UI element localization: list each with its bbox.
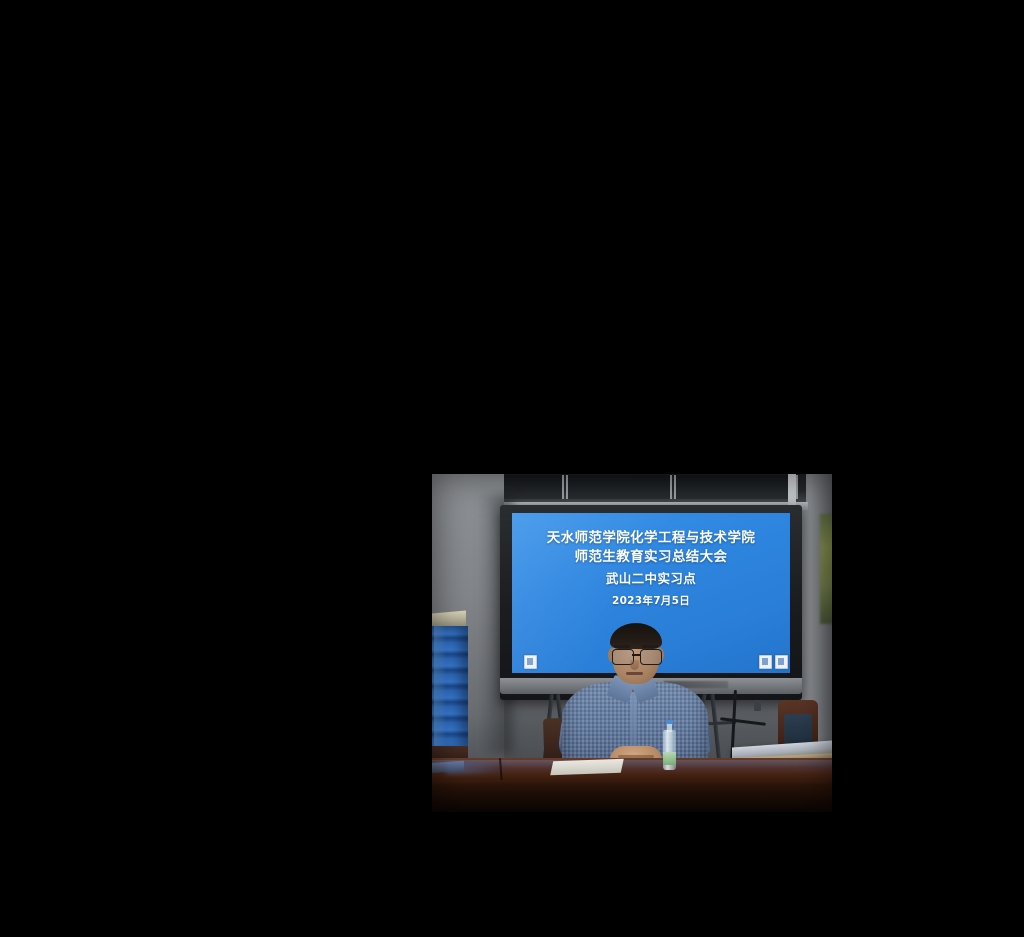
speaker-eyebrow-left — [614, 645, 630, 648]
wall-socket — [754, 700, 761, 711]
speaker-eyebrow-right — [642, 645, 658, 648]
slide-date-line: 2023年7月5日 — [512, 594, 790, 609]
desktop-shortcut-right-1-icon[interactable] — [759, 655, 772, 669]
glasses-bridge — [632, 654, 640, 656]
glasses-lens-right — [640, 649, 662, 665]
screenshot-canvas: 天水师范学院化学工程与技术学院 师范生教育实习总结大会 武山二中实习点 2023… — [0, 0, 1024, 937]
bottle-label — [663, 752, 676, 765]
stacked-chairs-highlight — [434, 626, 446, 750]
table-front-panel — [432, 786, 832, 812]
presentation-slide: 天水师范学院化学工程与技术学院 师范生教育实习总结大会 武山二中实习点 2023… — [512, 529, 790, 609]
window-pane-right — [674, 475, 798, 499]
window-pane-center — [566, 475, 672, 499]
seated-speaker — [560, 626, 710, 778]
water-bottle — [663, 720, 676, 770]
slide-line-1: 天水师范学院化学工程与技术学院 — [512, 529, 790, 548]
white-paper-sheet — [550, 759, 624, 775]
desktop-shortcut-right-2-icon[interactable] — [775, 655, 788, 669]
speaker-nose — [630, 660, 639, 670]
bottle-cap — [666, 720, 673, 724]
desktop-shortcut-left-icon[interactable] — [524, 655, 537, 669]
plant-decoration — [820, 514, 832, 624]
conference-room-photo: 天水师范学院化学工程与技术学院 师范生教育实习总结大会 武山二中实习点 2023… — [432, 474, 832, 812]
speaker-mouth — [626, 672, 643, 675]
slide-line-2: 师范生教育实习总结大会 — [512, 548, 790, 567]
slide-line-3: 武山二中实习点 — [512, 570, 790, 588]
